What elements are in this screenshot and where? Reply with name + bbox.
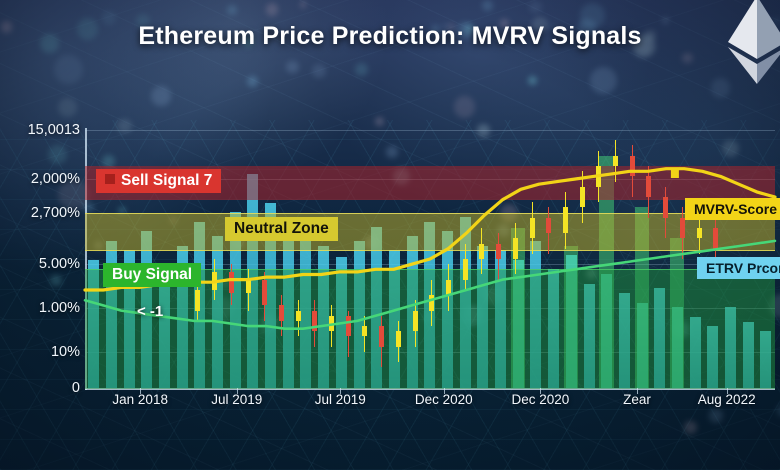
- y-axis-labels: 15,00132,000%2,700%5.00%1.00%10%0: [0, 130, 80, 388]
- neutral-zone-badge[interactable]: Neutral Zone: [225, 217, 338, 241]
- x-axis-tick-label: Jul 2019: [315, 392, 366, 407]
- y-axis-tick-label: 2,000%: [31, 171, 80, 187]
- y-axis-tick-label: 5.00%: [39, 256, 80, 272]
- mvrv-peak-marker: [671, 170, 679, 178]
- chart-canvas: Ethereum Price Prediction: MVRV Signals …: [0, 0, 780, 470]
- y-axis-tick-label: 1.00%: [39, 300, 80, 316]
- y-axis-tick-label: 2,700%: [31, 205, 80, 221]
- sell-signal-badge[interactable]: Sell Signal 7: [96, 169, 221, 193]
- legend-mvrv-score[interactable]: MVRV-Score: [685, 198, 780, 220]
- x-axis-tick-label: Zear: [623, 392, 651, 407]
- sell-swatch-icon: [105, 174, 115, 184]
- y-axis-tick-label: 0: [72, 380, 80, 396]
- x-axis-tick-label: Jan 2018: [112, 392, 168, 407]
- page-title: Ethereum Price Prediction: MVRV Signals: [0, 22, 780, 51]
- legend-etrv-price[interactable]: ETRV Prcore: [697, 257, 780, 279]
- x-axis-tick-label: Dec 2020: [415, 392, 473, 407]
- y-axis-tick-label: 15,0013: [28, 122, 80, 138]
- x-axis-tick-label: Dec 2020: [511, 392, 569, 407]
- threshold-annotation: < -1: [137, 303, 163, 320]
- buy-signal-badge[interactable]: Buy Signal: [103, 263, 201, 287]
- x-axis-tick-label: Aug 2022: [698, 392, 756, 407]
- y-axis-tick-label: 10%: [51, 344, 80, 360]
- x-axis-tick-label: Jul 2019: [211, 392, 262, 407]
